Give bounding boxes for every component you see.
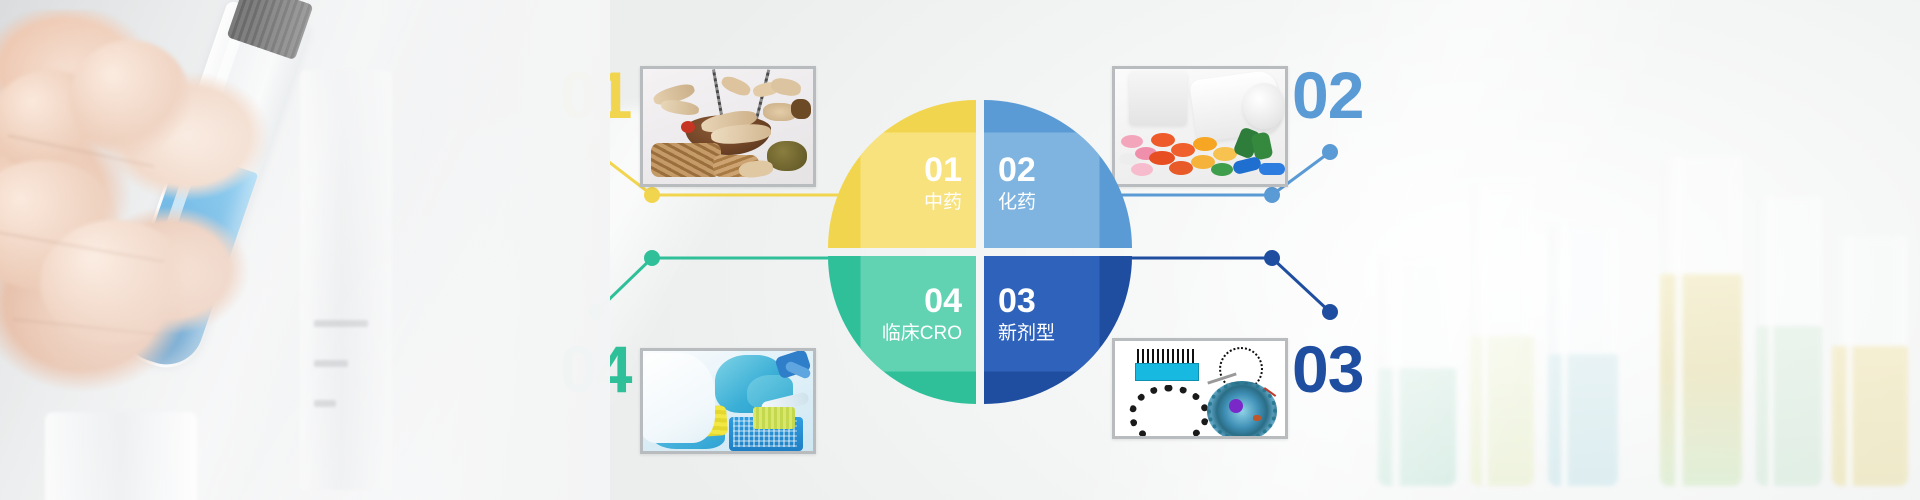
marker-number-03: 03 (1292, 336, 1363, 402)
wheel-label-01: 中药 (924, 192, 962, 214)
center-wheel: 01 中药 02 化药 03 新剂型 0 (828, 100, 1132, 404)
marker-number-02: 02 (1292, 62, 1363, 128)
wheel-segment-01[interactable]: 01 中药 (828, 100, 976, 248)
banner-stage: 01 02 03 04 01 中药 02 化药 03 (0, 0, 1920, 500)
wheel-number-04: 04 (882, 284, 962, 318)
wheel-segment-04[interactable]: 04 临床CRO (828, 256, 976, 404)
thumbnail-04-lab-pipetting[interactable] (640, 348, 816, 454)
wheel-label-04: 临床CRO (882, 323, 962, 345)
thumbnail-01-herbs[interactable] (640, 66, 816, 187)
wheel-segment-02[interactable]: 02 化药 (984, 100, 1132, 248)
background-photo-hand-testtube (0, 0, 610, 500)
wheel-number-01: 01 (924, 153, 962, 187)
wheel-number-03: 03 (998, 284, 1055, 318)
wheel-number-02: 02 (998, 153, 1036, 187)
wheel-label-03: 新剂型 (998, 323, 1055, 345)
thumbnail-03-formulation-diagram[interactable] (1112, 338, 1288, 439)
thumbnail-02-pills[interactable] (1112, 66, 1288, 187)
wheel-label-02: 化药 (998, 192, 1036, 214)
wheel-segment-03[interactable]: 03 新剂型 (984, 256, 1132, 404)
connector-03 (1120, 250, 1338, 320)
